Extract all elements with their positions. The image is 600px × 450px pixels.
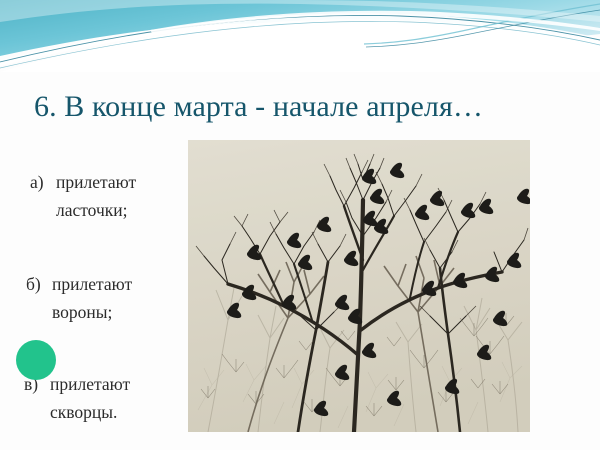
option-c[interactable]: в)прилетают скворцы. xyxy=(24,370,186,426)
option-b-text2: вороны; xyxy=(52,302,112,322)
option-b-line2: вороны; xyxy=(26,298,186,326)
option-b-text1: прилетают xyxy=(52,274,132,294)
option-c-line2: скворцы. xyxy=(24,398,186,426)
option-c-text2: скворцы. xyxy=(50,402,117,422)
option-a[interactable]: а)прилетают ласточки; xyxy=(30,168,186,224)
option-a-marker: а) xyxy=(30,168,56,196)
birds-in-bare-tree-photo xyxy=(188,140,530,432)
option-b-marker: б) xyxy=(26,270,52,298)
wave-banner xyxy=(0,0,600,72)
presentation-slide: 6. В конце марта - начале апреля… а)прил… xyxy=(0,0,600,450)
option-c-text1: прилетают xyxy=(50,374,130,394)
option-a-text2: ласточки; xyxy=(56,200,128,220)
answer-options-list: а)прилетают ласточки; б)прилетают вороны… xyxy=(0,168,186,426)
option-a-line1: а)прилетают xyxy=(30,168,186,196)
option-a-text1: прилетают xyxy=(56,172,136,192)
selected-answer-circle[interactable] xyxy=(16,340,56,380)
option-b[interactable]: б)прилетают вороны; xyxy=(26,270,186,326)
option-a-line2: ласточки; xyxy=(30,196,186,224)
option-b-line1: б)прилетают xyxy=(26,270,186,298)
slide-title: 6. В конце марта - начале апреля… xyxy=(34,88,574,126)
